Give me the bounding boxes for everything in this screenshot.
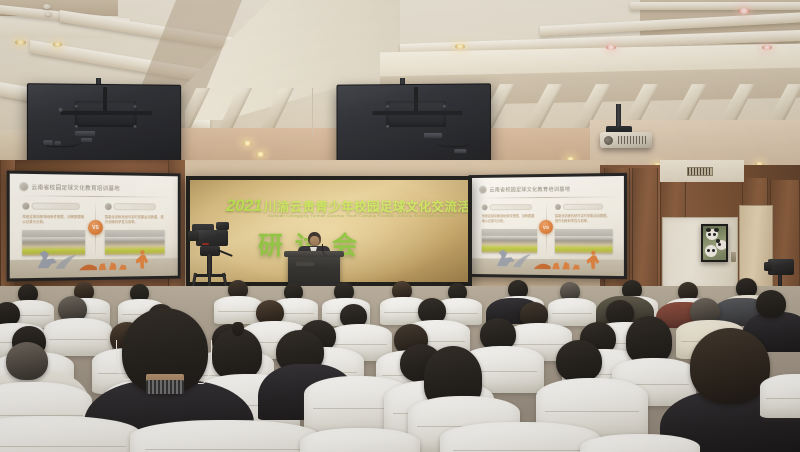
monitor-left-badge [55, 141, 61, 145]
panda-eye-icon [713, 233, 716, 236]
monitor-left-screw [134, 125, 137, 128]
ceiling-beam-right-1 [630, 2, 800, 10]
ceiling-downlight [606, 45, 616, 50]
camera-lens-icon [188, 231, 199, 241]
conference-hall-photo: 云南省校园足球文化教育培训基地 传统足球训练场地条件受限，训练数据难以记录与分析… [0, 0, 800, 452]
ceiling-downlight [738, 8, 750, 14]
wall-sign-grill-icon [688, 168, 712, 175]
panda-ear-icon [714, 228, 719, 232]
slide-left-title-rule [18, 195, 171, 197]
monitor-left-mount-bar [103, 87, 107, 115]
panda-eye-icon [718, 243, 721, 246]
slide-right-col1-pill [489, 204, 532, 210]
slide-left-col1-body: 传统足球训练场地条件受限，训练数据难以记录与分析。 [22, 215, 85, 228]
smoke-detector-icon [43, 4, 51, 9]
audience-head [690, 328, 770, 404]
collar-stripe [146, 380, 184, 394]
slide-right-col1-body: 传统足球训练场地条件受限，训练数据难以记录与分析。 [482, 214, 537, 226]
monitor-left-screw [134, 105, 137, 108]
monitor-right-screw [386, 105, 389, 108]
ceiling-wire [312, 88, 313, 136]
podium-nameplate [296, 262, 314, 266]
monitor-left-badge [43, 140, 52, 145]
camera-body [196, 230, 228, 246]
slide-right-title-row: 云南省校园足球文化教育培训基地 [479, 185, 570, 194]
audience-head [6, 342, 48, 380]
slide-left-col2-pill [114, 203, 156, 210]
ceiling-downlight [455, 44, 465, 49]
chair-foreground [0, 416, 140, 452]
slide-left-col1-pill [31, 203, 80, 210]
camera-record-indicator-icon [202, 243, 209, 245]
slide-left-col1-head [22, 202, 80, 209]
panda-poster-image [703, 226, 726, 260]
monitor-right-mount-bar [414, 87, 418, 115]
monitor-left-screw [75, 105, 78, 108]
slide-right-title-rule [478, 196, 619, 198]
panda-eye-icon [708, 233, 711, 236]
audience-area [0, 278, 800, 452]
slide-left-vs-badge: VS [88, 220, 103, 235]
slide-right-col2-pill [563, 204, 603, 210]
chair [214, 296, 262, 324]
ceiling-downlight [762, 45, 772, 50]
slide-right-badge-icon [479, 186, 487, 194]
camera-right-lens-icon [764, 262, 772, 271]
chair-foreground [300, 428, 420, 452]
projection-screen-right: 云南省校园足球文化教育培训基地 传统足球训练场地条件受限，训练数据难以记录与分析… [469, 173, 628, 279]
smoke-detector-icon [45, 12, 52, 16]
slide-left-col2-body: 智能化训练系统可实时采集运动数据，提升训练科学性与效率。 [105, 215, 165, 228]
chair-foreground [440, 422, 600, 452]
podium-top-surface [284, 251, 344, 257]
slide-left-col2-head [105, 203, 156, 210]
ceiling-downlight [243, 141, 252, 146]
door-right-handle[interactable] [731, 252, 736, 262]
monitor-left-screw [75, 125, 78, 128]
chair [44, 318, 112, 356]
chair [760, 374, 800, 418]
monitor-right[interactable] [337, 83, 491, 166]
monitor-left-port-panel [81, 138, 92, 142]
slide-left-title-row: 云南省校园足球文化教育培训基地 [19, 182, 120, 192]
monitor-right-screw [443, 105, 446, 108]
microphone [322, 244, 332, 256]
chair-foreground [580, 434, 700, 452]
ponytail-icon [232, 322, 244, 336]
slide-right-player-silhouettes-icon [471, 245, 624, 271]
projection-screen-left: 云南省校园足球文化教育培训基地 传统足球训练场地条件受限，训练数据难以记录与分析… [7, 170, 181, 281]
panda-ear-icon [706, 228, 711, 232]
slide-right-col1-dot-icon [482, 204, 488, 210]
wall-sign [687, 167, 713, 176]
ceiling-downlight [15, 40, 26, 45]
panda-eye-icon [707, 249, 710, 252]
panda-eye-icon [712, 249, 715, 252]
slide-left-player-silhouettes-icon [10, 245, 178, 273]
slide-right-col2-dot-icon [555, 204, 561, 210]
projector[interactable] [600, 132, 652, 148]
projector-vent [618, 136, 646, 144]
chair [548, 298, 596, 326]
projector-lens-icon [604, 136, 613, 145]
audience-head [756, 290, 786, 318]
panda-poster-frame [701, 224, 728, 262]
monitor-left[interactable] [27, 83, 181, 167]
monitor-right-badge [454, 149, 466, 153]
ceiling-downlight [256, 152, 265, 157]
slide-right-title: 云南省校园足球文化教育培训基地 [489, 185, 570, 193]
chair-foreground [130, 420, 320, 452]
slide-right-col1-head [482, 204, 532, 210]
slide-left-col2-dot-icon [105, 203, 112, 210]
slide-left-col1-dot-icon [22, 202, 29, 209]
speaker-face [310, 236, 319, 245]
slide-left-title: 云南省校园足球文化教育培训基地 [31, 183, 119, 192]
monitor-right-screw [386, 125, 389, 128]
monitor-left-screw [59, 108, 63, 112]
slide-right: 云南省校园足球文化教育培训基地 传统足球训练场地条件受限，训练数据难以记录与分析… [471, 176, 624, 276]
audience-head-long-hair [626, 316, 672, 364]
ceiling-downlight [53, 42, 62, 47]
camera-viewfinder [216, 222, 229, 230]
monitor-right-cable [436, 135, 470, 147]
slide-right-col2-body: 智能化训练系统可实时采集运动数据，提升训练科学性与效率。 [555, 214, 613, 226]
audience-head [556, 340, 602, 382]
slide-left: 云南省校园足球文化教育培训基地 传统足球训练场地条件受限，训练数据难以记录与分析… [10, 174, 178, 279]
slide-left-badge-icon [19, 182, 28, 191]
slide-right-vs-badge: VS [539, 220, 553, 234]
slide-right-col2-head [555, 204, 603, 210]
